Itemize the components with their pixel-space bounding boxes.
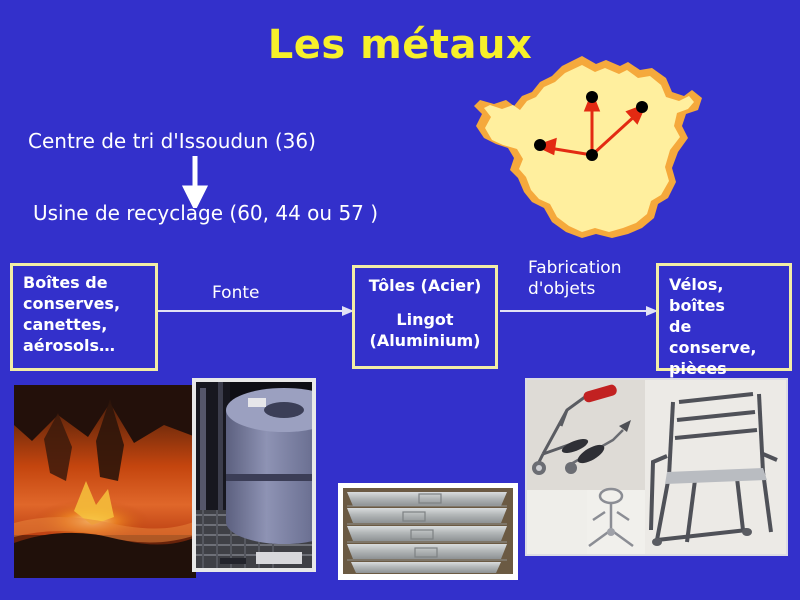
- slide-canvas: Les métaux Centre de tri d'Issoudun (36)…: [0, 0, 800, 600]
- flow-arrow-2-icon: [500, 302, 658, 314]
- fabrication-line-2: d'objets: [528, 279, 648, 300]
- flow-box-output: Vélos, boîtes de conserve, pièces automo…: [656, 263, 792, 371]
- middle-line-1: Tôles (Acier): [359, 275, 491, 296]
- output-line-3: pièces: [669, 358, 783, 379]
- sorting-centre-label: Centre de tri d'Issoudun (36): [28, 128, 316, 154]
- map-dot-origin: [586, 149, 598, 161]
- recycling-plant-label: Usine de recyclage (60, 44 ou 57 ): [33, 200, 378, 226]
- flow-box-middle: Tôles (Acier) Lingot (Aluminium): [352, 265, 498, 369]
- fabrication-line-1: Fabrication: [528, 258, 648, 279]
- output-line-1: Vélos, boîtes: [669, 274, 783, 316]
- input-line-4: aérosols…: [23, 335, 147, 356]
- map-dot-north: [586, 91, 598, 103]
- photo-steel-coil: [192, 378, 316, 572]
- flow-label-fonte: Fonte: [212, 283, 259, 304]
- flow-label-fabrication: Fabrication d'objets: [528, 258, 648, 300]
- photo-aluminium-ingots: [338, 483, 518, 580]
- map-dot-west: [534, 139, 546, 151]
- photo-metal-objects: [525, 378, 788, 556]
- flow-arrow-1-icon: [158, 302, 354, 314]
- output-line-2: de conserve,: [669, 316, 783, 358]
- map-dot-northeast: [636, 101, 648, 113]
- middle-line-3: (Aluminium): [359, 330, 491, 351]
- input-line-1: Boîtes de: [23, 272, 147, 293]
- input-line-3: canettes,: [23, 314, 147, 335]
- middle-line-2: Lingot: [359, 309, 491, 330]
- input-line-2: conserves,: [23, 293, 147, 314]
- france-map: [470, 52, 705, 242]
- flow-box-input: Boîtes de conserves, canettes, aérosols…: [10, 263, 158, 371]
- photo-molten-metal-furnace: [14, 385, 196, 578]
